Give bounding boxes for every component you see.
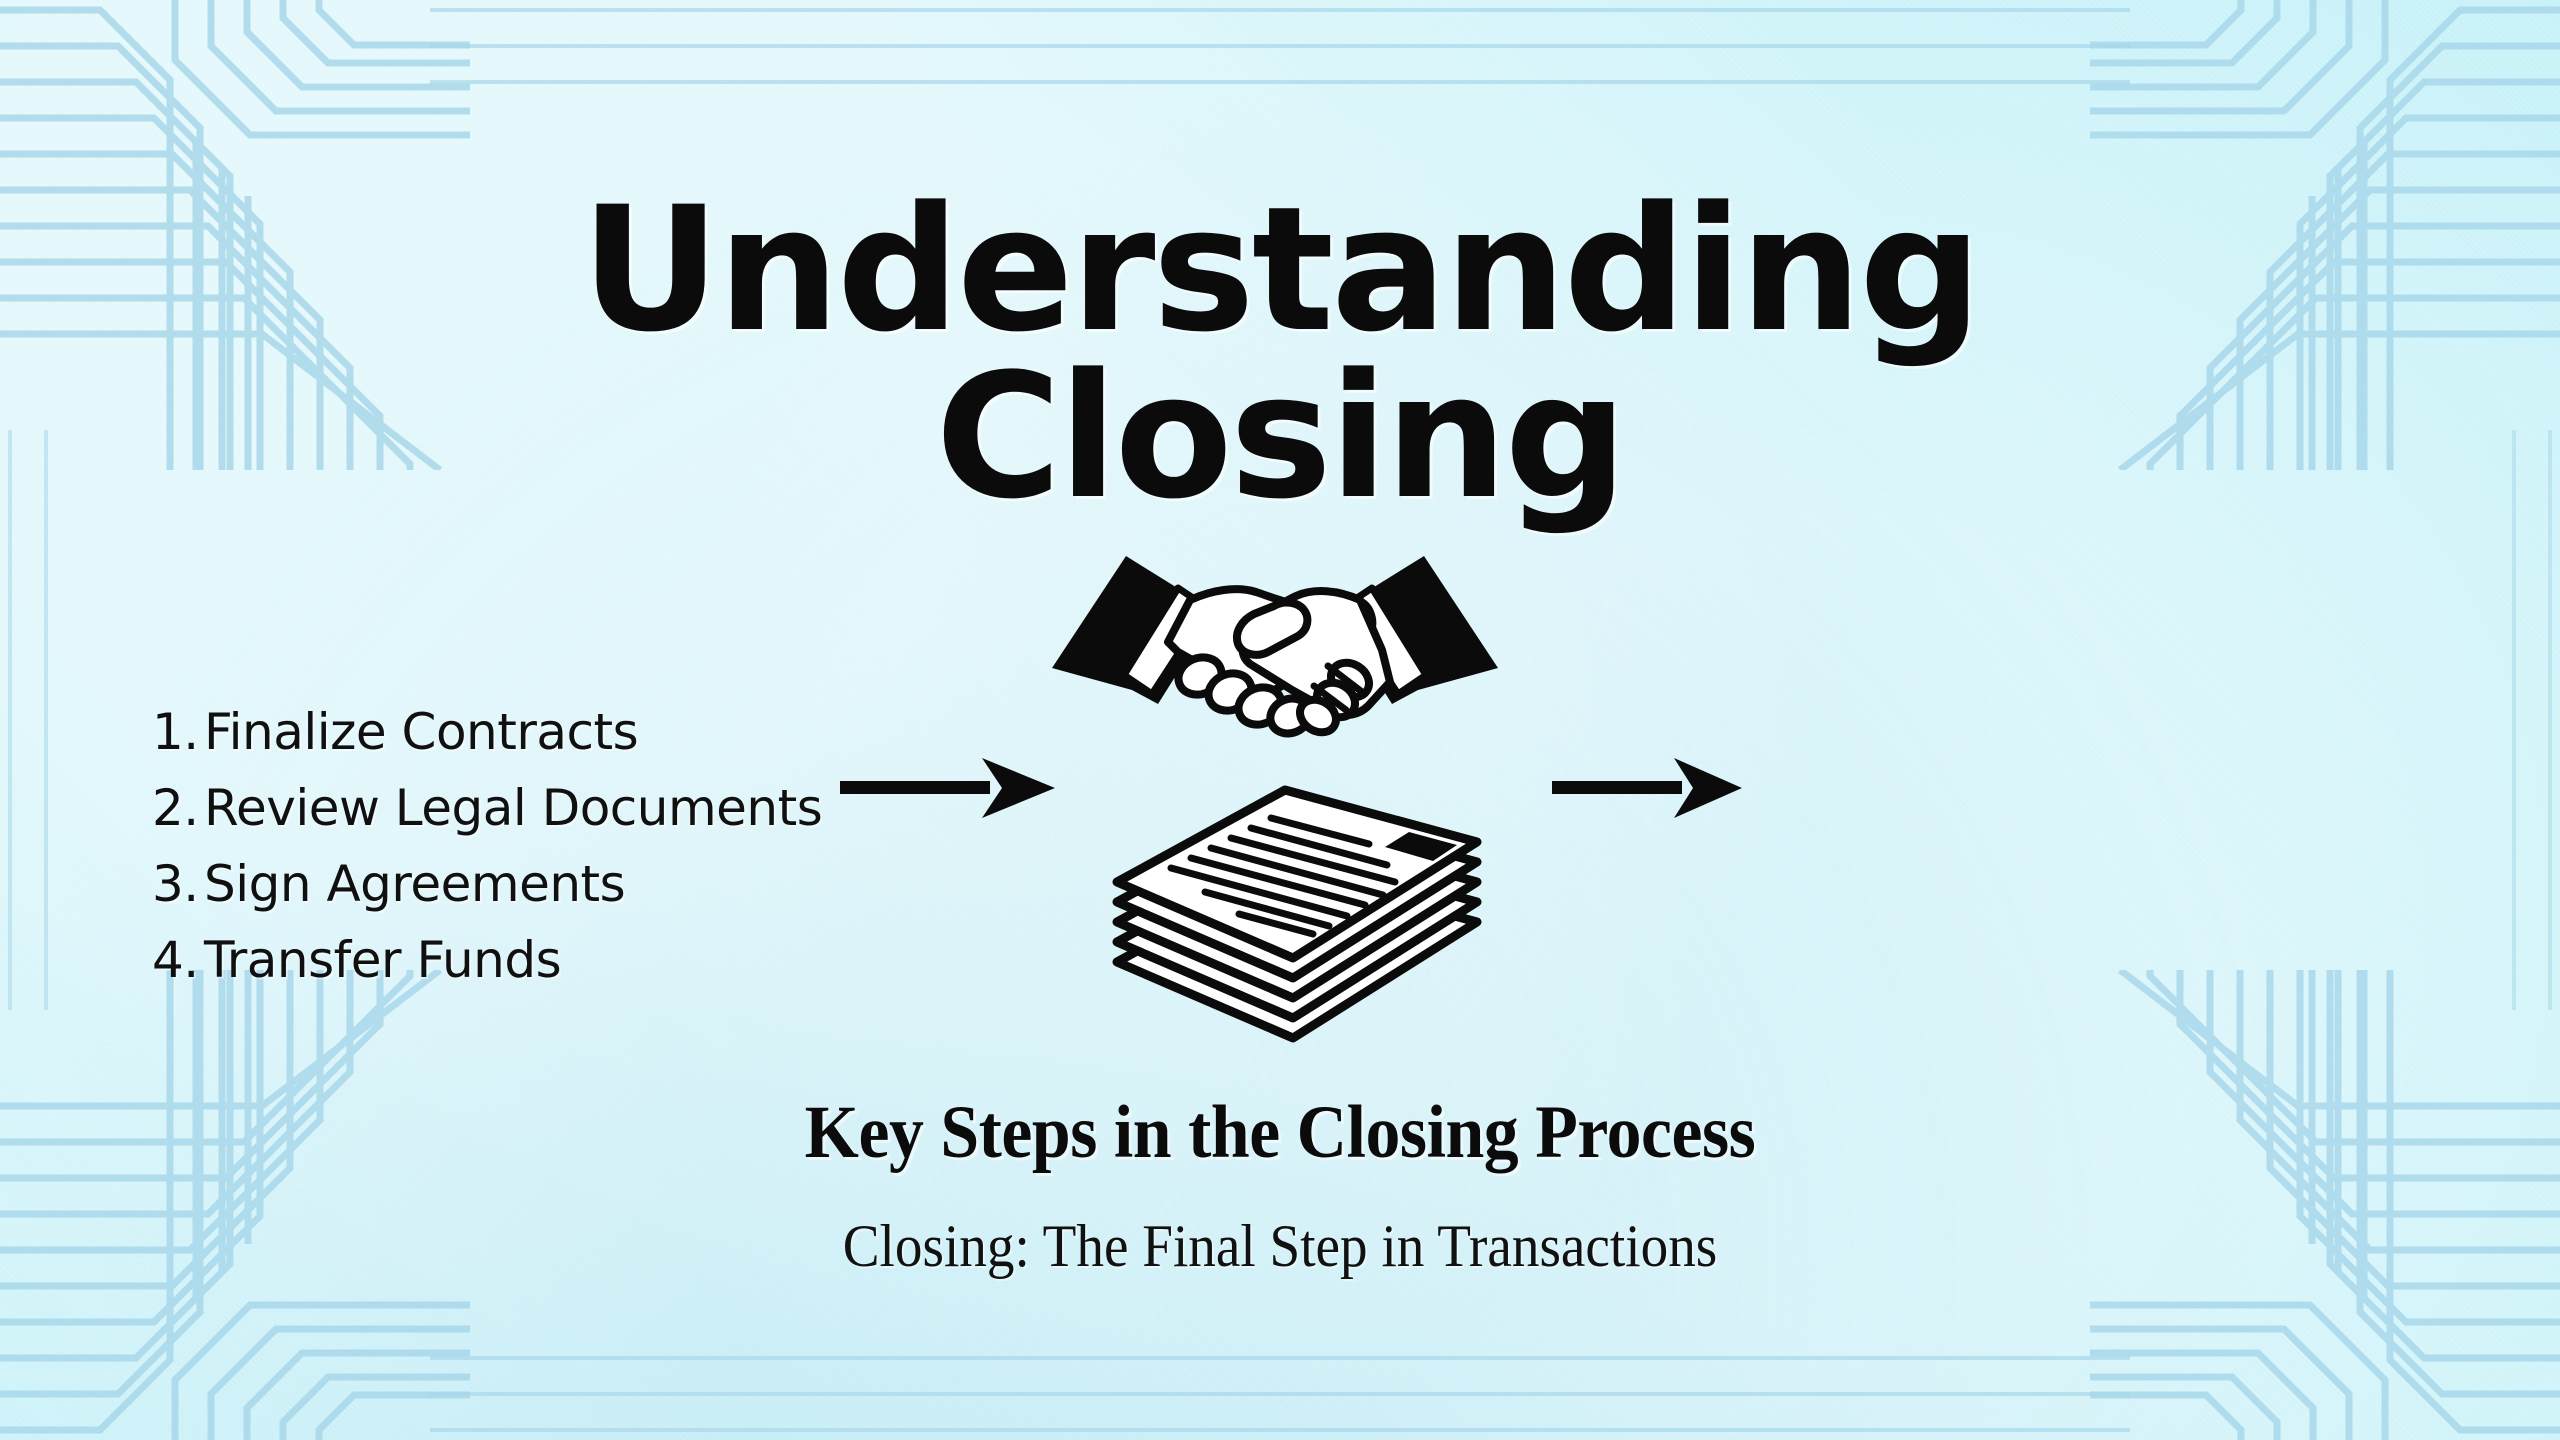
list-item: 3.Sign Agreements xyxy=(152,846,822,922)
flow-arrow-right-icon xyxy=(1552,752,1742,824)
step-label: Sign Agreements xyxy=(204,855,625,913)
closing-steps-list: 1.Finalize Contracts 2.Review Legal Docu… xyxy=(152,694,822,998)
edge-pattern-top xyxy=(430,0,2130,130)
list-item: 1.Finalize Contracts xyxy=(152,694,822,770)
step-number: 4. xyxy=(152,922,204,998)
caption-heading: Key Steps in the Closing Process xyxy=(90,1090,2471,1176)
caption-subtitle: Closing: The Final Step in Transactions xyxy=(102,1212,2457,1281)
step-label: Finalize Contracts xyxy=(204,703,638,761)
handshake-icon xyxy=(1040,540,1510,750)
flow-arrow-left-icon xyxy=(840,752,1055,824)
page-title-line-2: Closing xyxy=(0,354,2560,521)
corner-ornament-bottom-right xyxy=(2090,970,2560,1440)
list-item: 2.Review Legal Documents xyxy=(152,770,822,846)
list-item: 4.Transfer Funds xyxy=(152,922,822,998)
step-number: 2. xyxy=(152,770,204,846)
edge-pattern-bottom xyxy=(430,1310,2130,1440)
corner-ornament-bottom-left xyxy=(0,970,470,1440)
page-title: Understanding Closing xyxy=(0,187,2560,521)
step-number: 1. xyxy=(152,694,204,770)
step-label: Review Legal Documents xyxy=(204,779,822,837)
document-stack-icon xyxy=(1065,770,1510,1050)
step-label: Transfer Funds xyxy=(204,931,561,989)
step-number: 3. xyxy=(152,846,204,922)
slide-canvas: Understanding Closing 1.Finalize Contrac… xyxy=(0,0,2560,1440)
page-title-line-1: Understanding xyxy=(0,187,2560,354)
